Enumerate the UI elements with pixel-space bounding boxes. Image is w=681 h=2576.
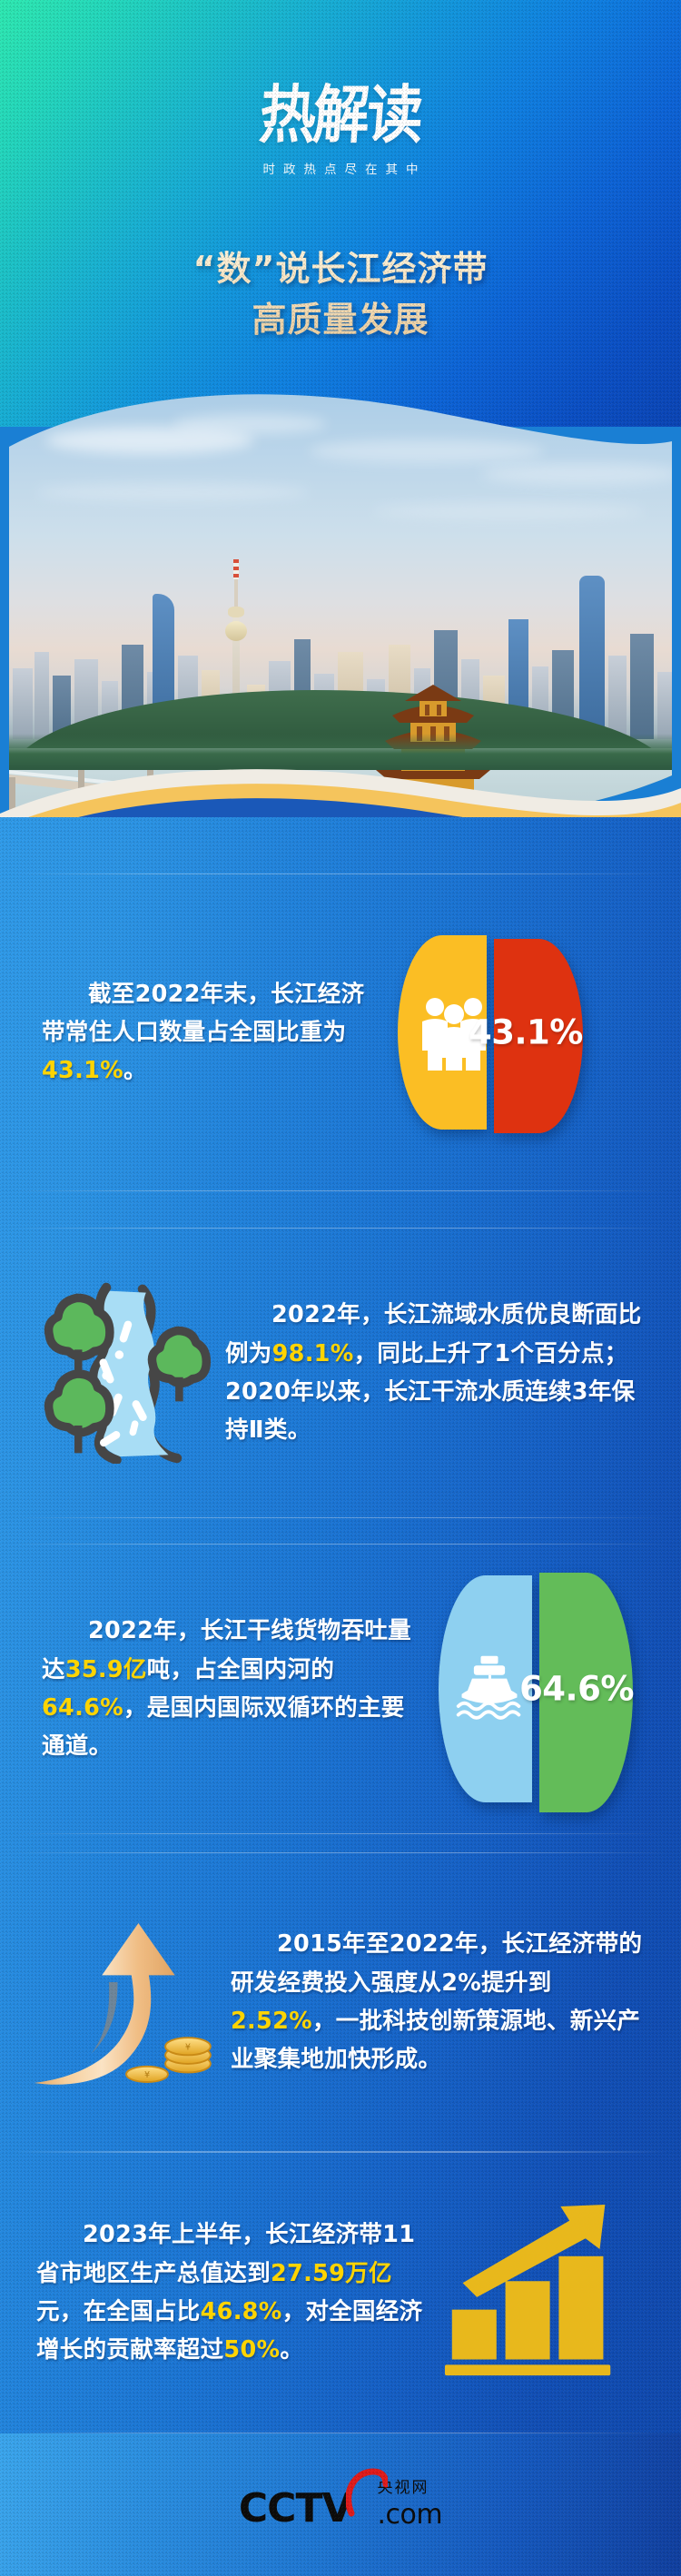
card-text-rd: 2015年至2022年，长江经济带的研发经费投入强度从2%提升到2.52%，一批… xyxy=(231,1925,648,2078)
pie-value-label: 64.6% xyxy=(518,1670,635,1709)
card-text-gdp: 2023年上半年，长江经济带11省市地区生产总值达到27.59万亿元，在全国占比… xyxy=(36,2216,436,2369)
text-segment: 2015年至2022年，长江经济带的研发经费投入强度从2%提升到 xyxy=(231,1930,642,1996)
text-segment: 截至2022年末，长江经济带常住人口数量占全国比重为 xyxy=(42,981,364,1046)
card-text-population: 截至2022年末，长江经济带常住人口数量占全国比重为43.1%。 xyxy=(42,975,369,1091)
page-title-line2: 高质量发展 xyxy=(0,294,681,345)
highlight-value: 2.52% xyxy=(231,2008,312,2035)
coin-icon: ¥ xyxy=(126,2067,168,2082)
card-divider xyxy=(13,2152,668,2153)
bar-mid xyxy=(506,2281,550,2359)
cargo-ship-icon xyxy=(453,1654,526,1723)
cctv-brand-text: CCTV xyxy=(239,2489,352,2529)
text-segment: 。 xyxy=(280,2336,303,2364)
card-divider xyxy=(13,1517,668,1518)
coin-stack-icon: ¥ xyxy=(165,2038,211,2072)
tree-icon xyxy=(152,1330,206,1401)
cctv-logo[interactable]: CCTV 央视网 .com xyxy=(239,2481,442,2529)
highlight-value: 98.1% xyxy=(272,1340,354,1367)
logo-text: 热解读 xyxy=(258,84,423,146)
pie-chart: 43.1% xyxy=(398,935,576,1130)
text-segment: 。 xyxy=(123,1057,147,1084)
infographic-page: 热解读 时政热点尽在其中 “数”说长江经济带 高质量发展 xyxy=(0,0,681,2576)
pie-chart-population: 43.1% xyxy=(369,923,605,1141)
pie-chart: 64.6% xyxy=(439,1575,626,1802)
stat-card-population: 截至2022年末，长江经济带常住人口数量占全国比重为43.1%。 xyxy=(0,873,681,1191)
bar-chart-arrow-icon xyxy=(436,2188,628,2397)
bar-baseline xyxy=(445,2364,610,2375)
logo-subtitle: 时政热点尽在其中 xyxy=(0,159,681,177)
highlight-value: 64.6% xyxy=(42,1694,123,1722)
highlight-value: 27.59万亿 xyxy=(271,2260,392,2287)
card-divider xyxy=(13,873,668,874)
highlight-value: 43.1% xyxy=(42,1057,123,1084)
bar-low xyxy=(452,2310,497,2360)
page-title-line1: “数”说长江经济带 xyxy=(0,243,681,294)
page-header: 热解读 时政热点尽在其中 “数”说长江经济带 高质量发展 xyxy=(0,0,681,427)
pie-value-label: 43.1% xyxy=(469,1013,581,1052)
page-title: “数”说长江经济带 高质量发展 xyxy=(0,243,681,345)
brand-logo: 热解读 时政热点尽在其中 xyxy=(0,87,681,177)
stat-card-cargo-throughput: 2022年，长江干线货物吞吐量达35.9亿吨，占全国内河的64.6%，是国内国际… xyxy=(0,1544,681,1834)
stat-card-rd-intensity: ¥ ¥ 2015年至2022年，长江经济带的研发经费投入强度从2%提升到2.52… xyxy=(0,1852,681,2152)
highlight-value: 50% xyxy=(223,2336,280,2364)
bar-high xyxy=(558,2256,603,2360)
card-divider xyxy=(13,1228,668,1229)
svg-text:¥: ¥ xyxy=(185,2043,191,2053)
stat-card-gdp: 2023年上半年，长江经济带11省市地区生产总值达到27.59万亿元，在全国占比… xyxy=(0,2152,681,2433)
text-segment: 吨，占全国内河的 xyxy=(147,1656,334,1683)
card-divider xyxy=(13,1852,668,1853)
page-footer: CCTV 央视网 .com xyxy=(0,2433,681,2576)
arrow-up-shape xyxy=(35,1923,175,2085)
highlight-value: 46.8% xyxy=(201,2298,282,2325)
card-divider xyxy=(13,1833,668,1834)
card-divider xyxy=(13,1544,668,1545)
svg-text:¥: ¥ xyxy=(144,2070,150,2080)
river-trees-icon xyxy=(25,1264,225,1482)
pie-chart-cargo: 64.6% xyxy=(421,1569,643,1809)
text-segment: 元，在全国占比 xyxy=(36,2298,201,2325)
hero-image xyxy=(9,376,672,848)
card-text-water-quality: 2022年，长江流域水质优良断面比例为98.1%，同比上升了1个百分点；2020… xyxy=(225,1296,648,1449)
cctv-swoosh-icon xyxy=(346,2468,388,2519)
city-skyline-photo xyxy=(9,376,672,848)
stat-card-water-quality: 2022年，长江流域水质优良断面比例为98.1%，同比上升了1个百分点；2020… xyxy=(0,1228,681,1518)
card-divider xyxy=(13,1190,668,1191)
highlight-value: 35.9亿 xyxy=(65,1656,147,1683)
rising-arrow-coins-icon: ¥ ¥ xyxy=(24,1889,231,2116)
card-text-cargo: 2022年，长江干线货物吞吐量达35.9亿吨，占全国内河的64.6%，是国内国际… xyxy=(42,1612,421,1765)
